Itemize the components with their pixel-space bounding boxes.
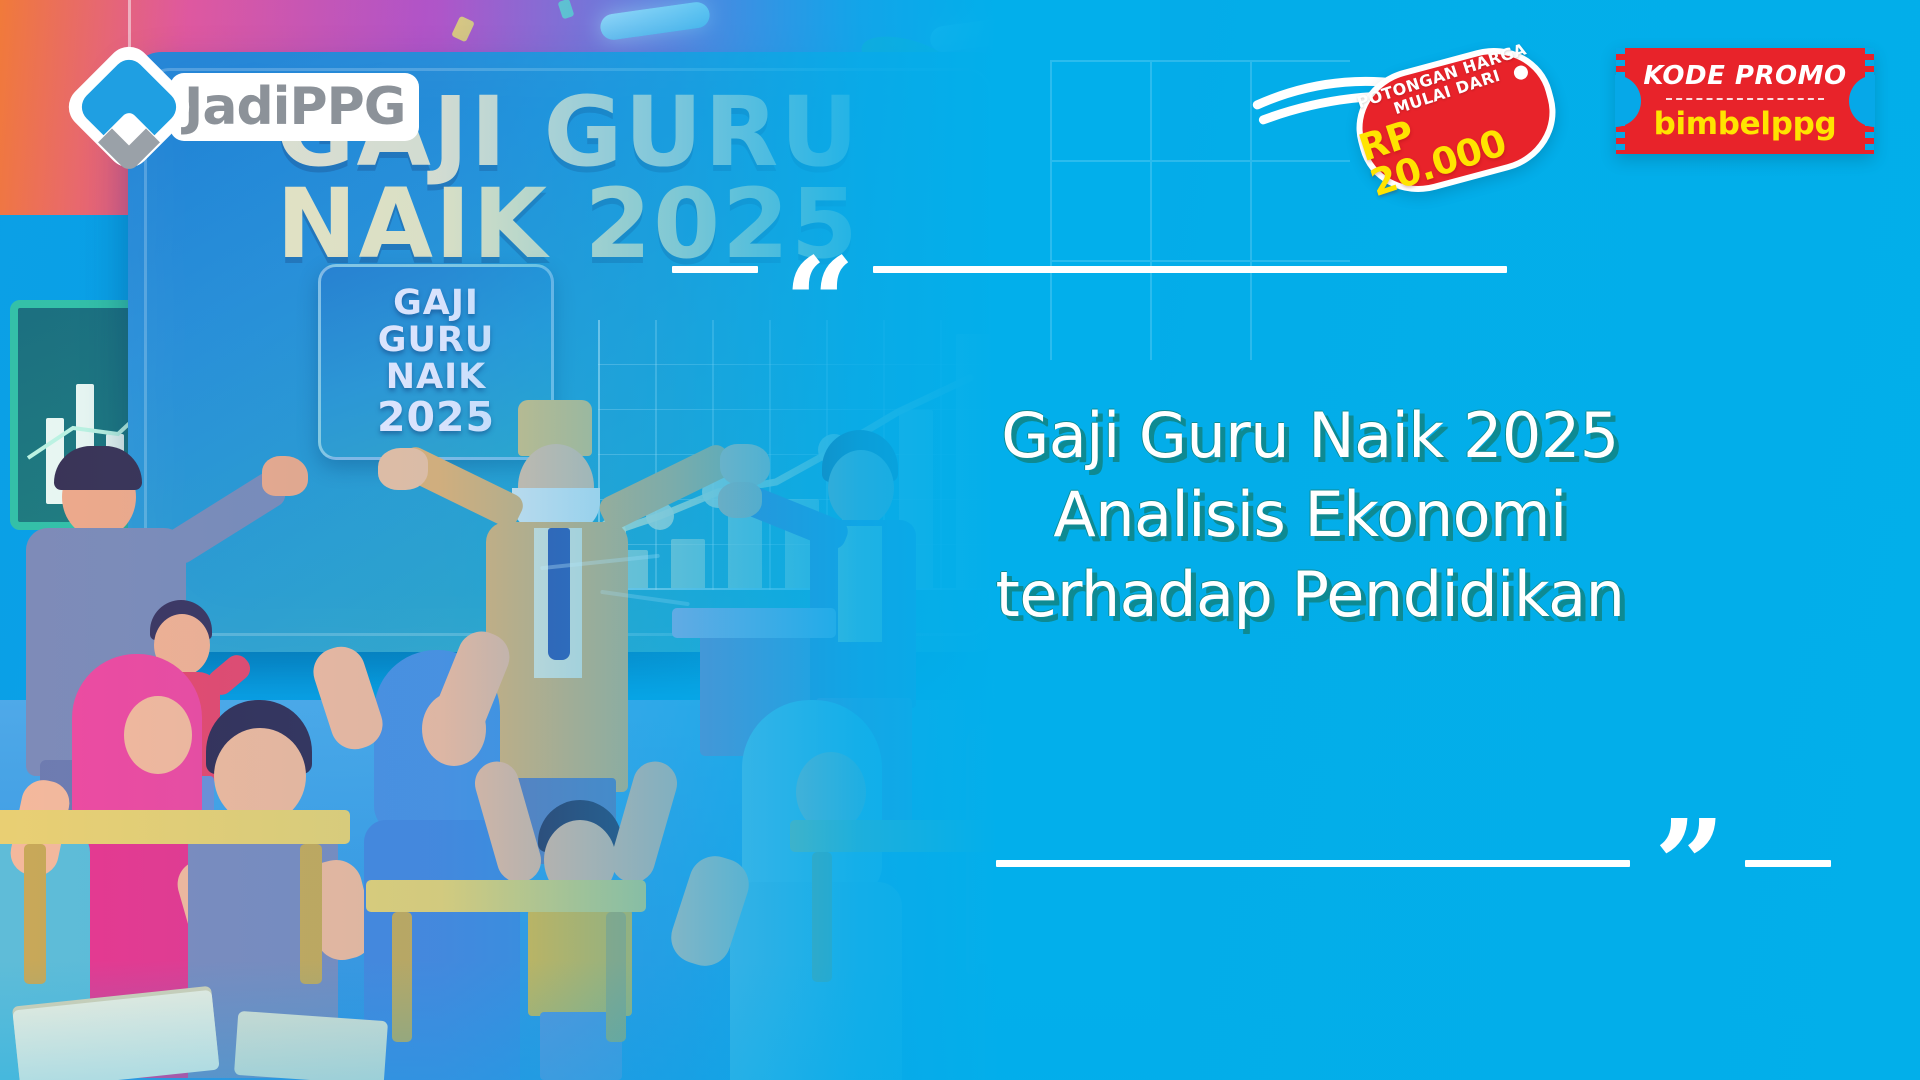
decor-rule-short [672, 266, 758, 273]
decor-rule-long [996, 860, 1630, 867]
decoration-top: “ [672, 256, 1507, 282]
decor-rule-short [1745, 860, 1831, 867]
headline-line-2: Analisis Ekonomi [880, 475, 1740, 554]
headline-line-1: Gaji Guru Naik 2025 [880, 396, 1740, 475]
coupon-title: KODE PROMO [1643, 61, 1846, 91]
headline: Gaji Guru Naik 2025 Analisis Ekonomi ter… [880, 396, 1740, 634]
banner-canvas: GAJI GURU NAIK 2025 GAJI GURU NAIK 2025 [0, 0, 1920, 1080]
brand-logo[interactable]: JadiPPG [80, 58, 419, 156]
coupon-code[interactable]: bimbelppg [1654, 106, 1837, 142]
promo-group[interactable]: POTONGAN HARGA MULAI DARI RP 20.000 KODE… [1616, 48, 1874, 154]
decoration-bottom: ” [996, 860, 1831, 867]
illustration-bottom-fade [0, 960, 1160, 1080]
brand-name: JadiPPG [170, 73, 419, 141]
promo-code-coupon[interactable]: KODE PROMO bimbelppg [1616, 48, 1874, 154]
jadippg-diamond-logo-icon [60, 38, 199, 177]
coupon-notch-left [1615, 75, 1641, 127]
coupon-notch-right [1849, 75, 1875, 127]
discount-tag: POTONGAN HARGA MULAI DARI RP 20.000 [1343, 34, 1568, 206]
coupon-separator [1666, 98, 1824, 100]
headline-line-3: terhadap Pendidikan [880, 555, 1740, 634]
decor-rule-long [873, 266, 1507, 273]
